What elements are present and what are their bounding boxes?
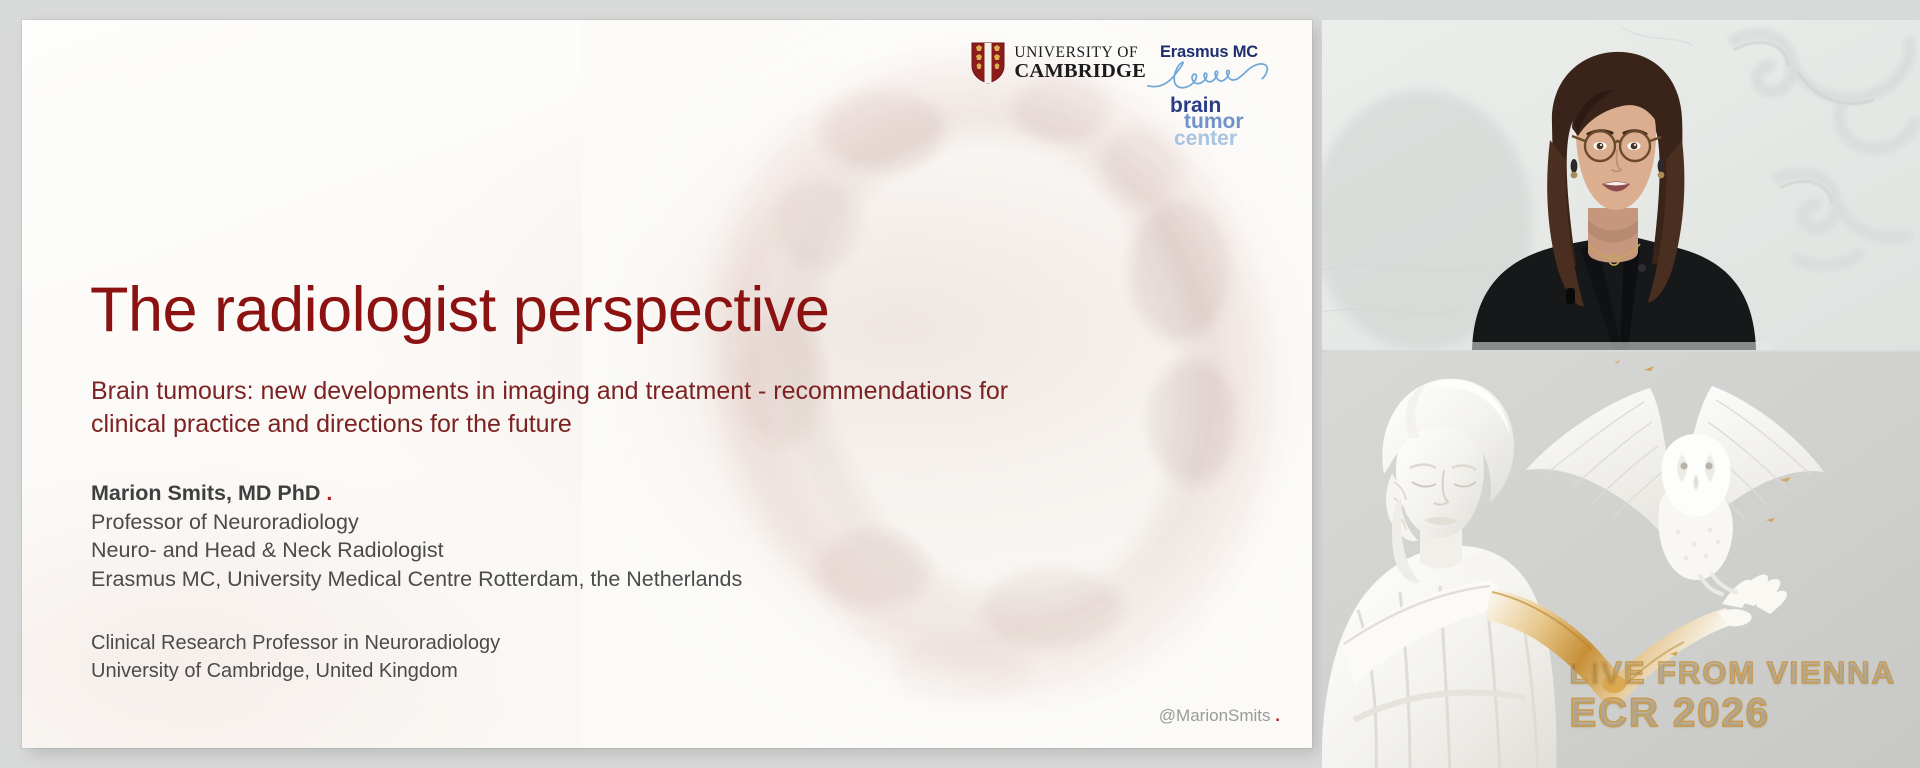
slide-subtitle: Brain tumours: new developments in imagi…	[91, 375, 1021, 442]
ecr-brand-text: LIVE FROM VIENNA ECR 2026	[1569, 657, 1896, 734]
cambridge-crest-icon	[971, 42, 1005, 84]
slide-logos: UNIVERSITY OF CAMBRIDGE Erasmus MC brain…	[971, 42, 1292, 148]
slide-title: The radiologist perspective	[90, 278, 829, 342]
ecr-brand-panel: LIVE FROM VIENNA ECR 2026	[1322, 352, 1920, 768]
presentation-stage: UNIVERSITY OF CAMBRIDGE Erasmus MC brain…	[0, 0, 1920, 768]
social-handle-accent-dot: .	[1275, 706, 1280, 725]
cambridge-logo: UNIVERSITY OF CAMBRIDGE	[971, 42, 1146, 84]
affiliation-university-line: University of Cambridge, United Kingdom	[91, 658, 500, 686]
cambridge-wordmark: UNIVERSITY OF CAMBRIDGE	[1014, 45, 1146, 82]
brain-tumor-center-mark: brain tumor center	[1160, 96, 1292, 148]
brand-live-from-vienna: LIVE FROM VIENNA	[1569, 657, 1896, 690]
author-block: Marion Smits, MD PhD . Professor of Neur…	[91, 480, 742, 593]
erasmus-mc-logo: Erasmus MC brain tumor center	[1160, 42, 1292, 148]
affiliation-role-line: Clinical Research Professor in Neuroradi…	[91, 630, 500, 658]
author-name-text: Marion Smits, MD PhD	[91, 481, 320, 505]
social-handle: @MarionSmits .	[1159, 706, 1280, 726]
cambridge-line2: CAMBRIDGE	[1014, 61, 1146, 82]
author-name-accent-dot: .	[326, 481, 332, 505]
btc-line-center: center	[1160, 129, 1292, 148]
speaker-video-panel[interactable]	[1322, 20, 1920, 350]
affiliation-block: Clinical Research Professor in Neuroradi…	[91, 630, 500, 685]
erasmus-signature-icon	[1146, 59, 1280, 93]
author-institution-line: Erasmus MC, University Medical Centre Ro…	[91, 565, 742, 593]
speaker-video-frame	[1322, 20, 1920, 350]
brand-ecr-2026: ECR 2026	[1569, 692, 1896, 734]
cambridge-line1: UNIVERSITY OF	[1014, 45, 1146, 61]
social-handle-text: @MarionSmits	[1159, 706, 1271, 725]
author-name: Marion Smits, MD PhD .	[91, 480, 742, 508]
author-role-line: Professor of Neuroradiology	[91, 508, 742, 536]
slide-panel[interactable]: UNIVERSITY OF CAMBRIDGE Erasmus MC brain…	[22, 20, 1312, 748]
author-specialty-line: Neuro- and Head & Neck Radiologist	[91, 536, 742, 564]
